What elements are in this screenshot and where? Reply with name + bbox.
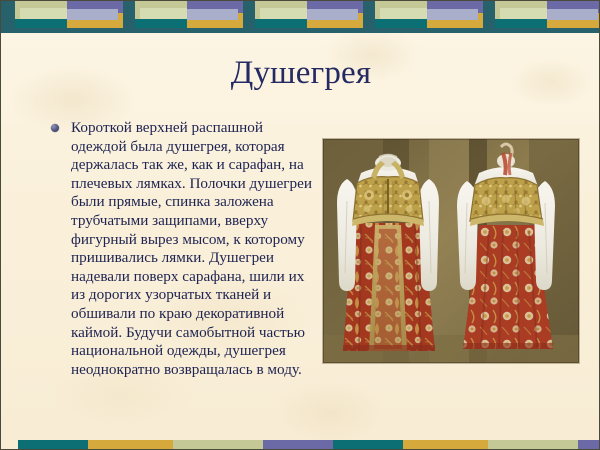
top-decorative-band <box>1 1 600 33</box>
content-bullet-item: Короткой верхней распашной одеждой была … <box>51 119 319 379</box>
costume-illustration <box>323 139 579 363</box>
bottom-band-segment <box>18 440 88 449</box>
slide: Душегрея Короткой верхней распашной одеж… <box>0 0 600 450</box>
ornament-unit <box>15 1 123 28</box>
ornament-gold-block <box>307 1 363 28</box>
bottom-band-segment <box>173 440 263 449</box>
bottom-band-segment <box>488 440 578 449</box>
body-paragraph: Короткой верхней распашной одеждой была … <box>71 119 319 379</box>
ornament-gold-block <box>547 1 600 28</box>
ornament-teal-bar <box>135 19 187 28</box>
bottom-band-segment <box>333 440 403 449</box>
ornament-unit <box>375 1 483 28</box>
ornament-unit <box>255 1 363 28</box>
ornament-sage-block <box>255 1 307 28</box>
ornament-teal-bar <box>15 19 67 28</box>
ornament-teal-bar <box>255 19 307 28</box>
ornament-sage-inner <box>380 8 427 19</box>
bottom-band-segment <box>578 440 600 449</box>
ornament-purple-inner <box>427 9 478 20</box>
bottom-decorative-band <box>1 436 600 449</box>
page-title: Душегрея <box>1 53 600 93</box>
ornament-gold-block <box>187 1 243 28</box>
diamond-bullet-icon <box>51 119 71 135</box>
ornament-sage-inner <box>20 8 67 19</box>
ornament-sage-inner <box>500 8 547 19</box>
ornament-sage-inner <box>140 8 187 19</box>
ornament-sage-inner <box>260 8 307 19</box>
ornament-teal-bar <box>375 19 427 28</box>
bottom-band-left-padding <box>1 440 18 449</box>
ornament-purple-inner <box>307 9 358 20</box>
ornament-unit <box>495 1 600 28</box>
bottom-band-segment <box>403 440 488 449</box>
ornament-purple-inner <box>547 9 598 20</box>
ornament-gold-block <box>427 1 483 28</box>
russian-folk-costume-photo <box>323 139 579 363</box>
bullet-dot-shape <box>51 124 59 132</box>
ornament-purple-inner <box>187 9 238 20</box>
ornament-sage-block <box>375 1 427 28</box>
ornament-gold-block <box>67 1 123 28</box>
ornament-sage-block <box>15 1 67 28</box>
ornament-sage-block <box>135 1 187 28</box>
bottom-band-segment <box>263 440 333 449</box>
ornament-sage-block <box>495 1 547 28</box>
costume-front-view <box>337 155 439 352</box>
bottom-band-segment <box>88 440 173 449</box>
ornament-purple-inner <box>67 9 118 20</box>
ornament-unit <box>135 1 243 28</box>
ornament-teal-bar <box>495 19 547 28</box>
